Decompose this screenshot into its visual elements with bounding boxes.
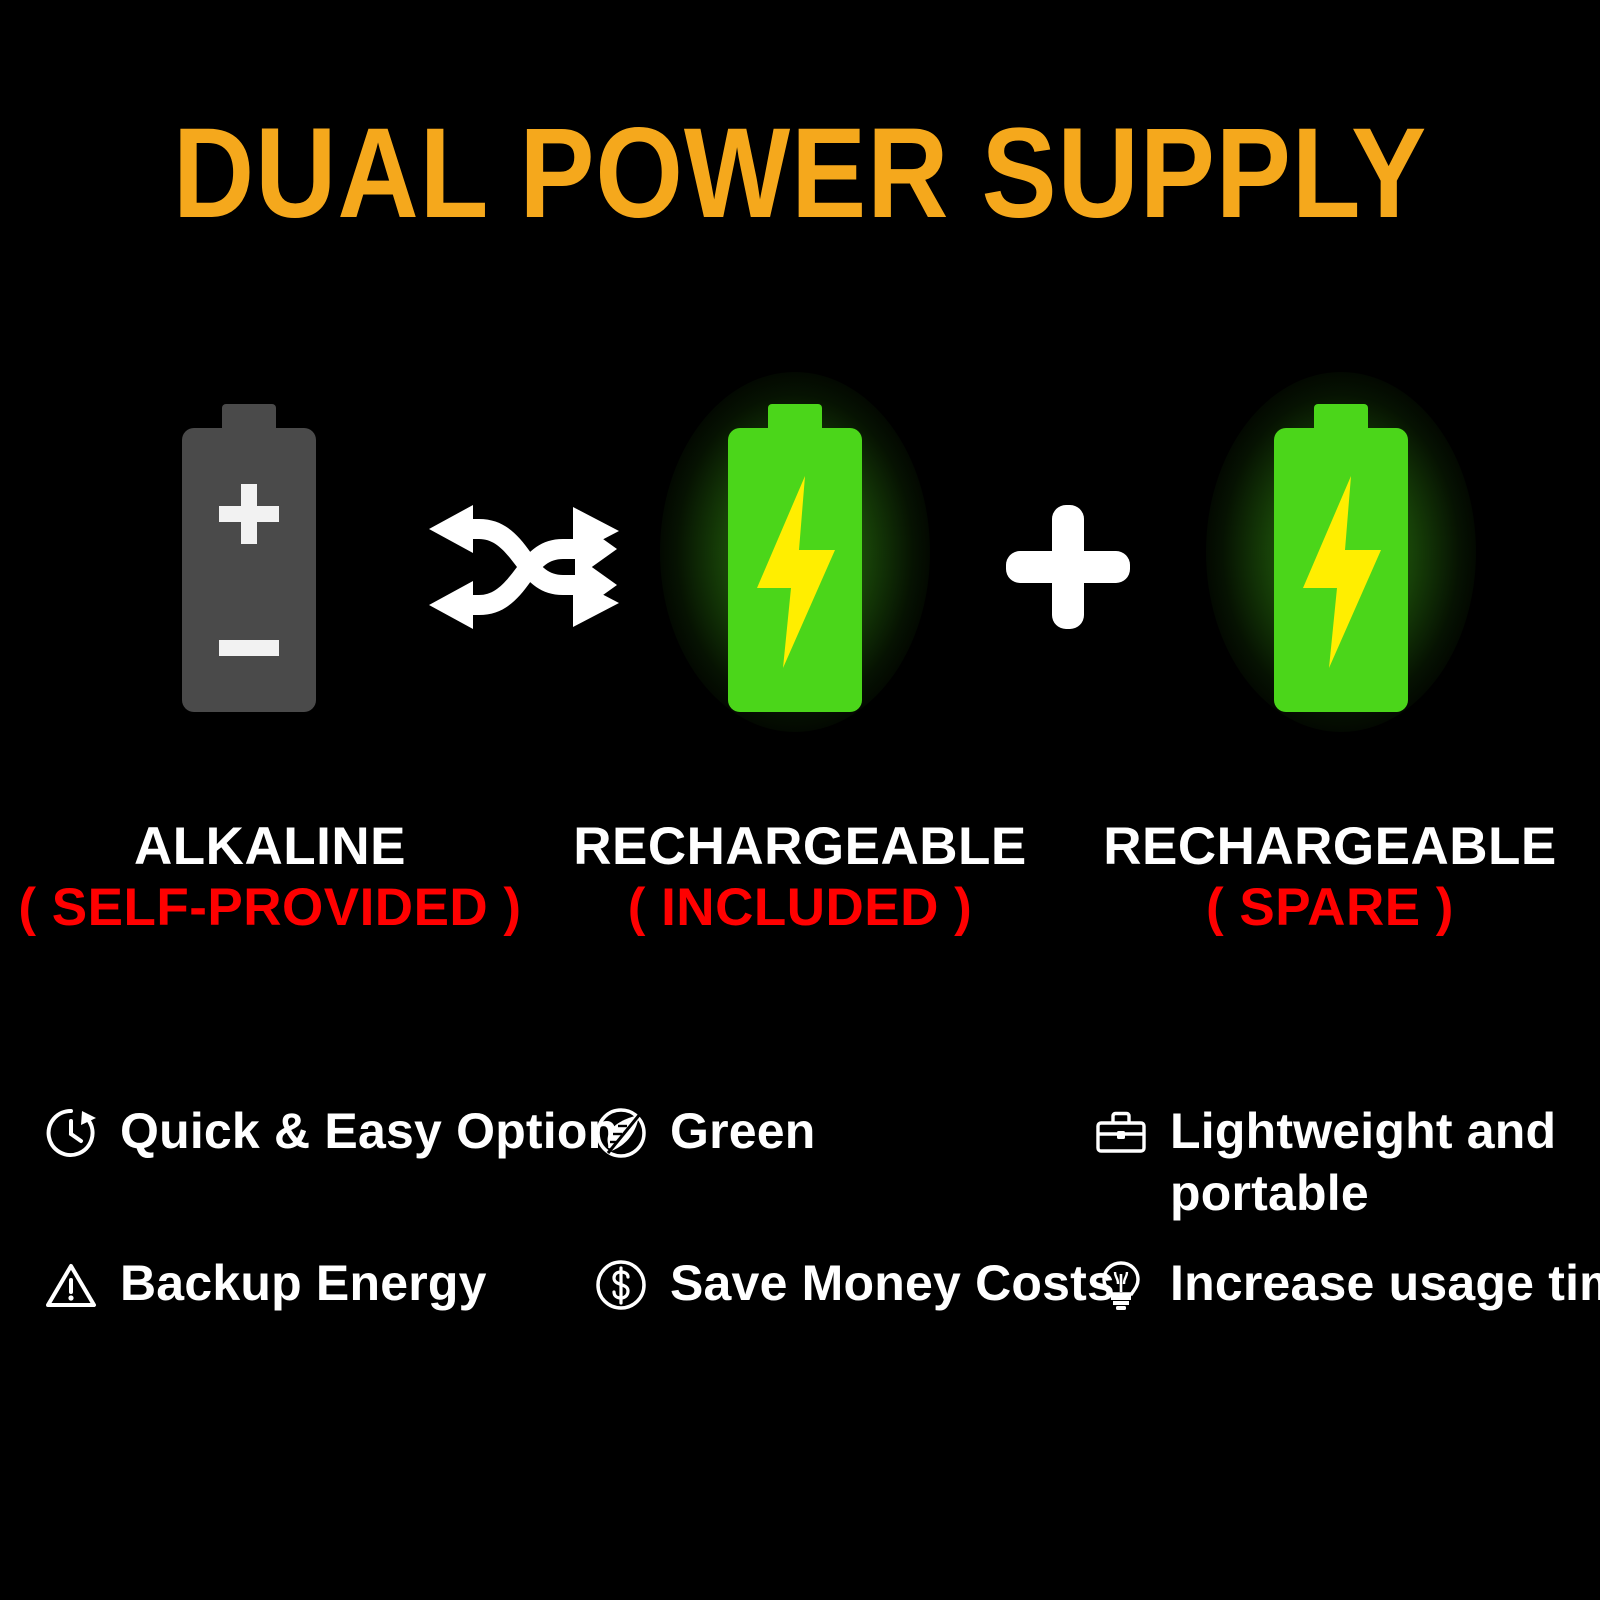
briefcase-icon [1094,1106,1148,1160]
battery-cell-alkaline [104,392,394,742]
battery-status-badge: ( INCLUDED ) [540,876,1060,940]
feature-label: Save Money Costs [670,1252,1115,1314]
shuffle-arrows-icon [417,497,627,637]
rechargeable-battery-icon [1274,404,1408,712]
feature-label: Quick & Easy Option [120,1100,618,1162]
battery-cell-rechargeable-included [650,392,940,742]
feature-label: Increase usage time [1170,1252,1600,1314]
battery-cap [222,404,276,430]
battery-cell-rechargeable-spare [1196,392,1486,742]
lightbulb-icon [1094,1258,1148,1312]
feature-item: Increase usage time [1094,1252,1600,1314]
connector-shuffle [394,392,650,742]
page-title: DUAL POWER SUPPLY [96,108,1504,240]
battery-type-name: ALKALINE [0,818,540,876]
dollar-circle-icon [594,1258,648,1312]
battery-status-badge: ( SELF-PROVIDED ) [0,876,540,940]
warning-triangle-icon [44,1258,98,1312]
lightning-bolt-icon [747,472,843,672]
battery-body [728,428,862,712]
leaf-circle-icon [594,1106,648,1160]
feature-item: Backup Energy [44,1252,487,1314]
battery-comparison-row [0,392,1600,742]
plus-icon [1006,505,1130,629]
plus-terminal-icon [219,484,279,544]
feature-label: Lightweight and portable [1170,1100,1600,1224]
battery-cap [1314,404,1368,430]
feature-item: Green [594,1100,816,1162]
alkaline-battery-icon [182,404,316,712]
battery-type-name: RECHARGEABLE [540,818,1060,876]
battery-status-badge: ( SPARE ) [1060,876,1600,940]
battery-body [182,428,316,712]
rechargeable-battery-icon [728,404,862,712]
feature-item: Save Money Costs [594,1252,1115,1314]
feature-label: Green [670,1100,816,1162]
battery-label-row: ALKALINE ( SELF-PROVIDED ) RECHARGEABLE … [0,818,1600,978]
feature-list: Quick & Easy Option Backup Energy Green [0,1082,1600,1382]
battery-type-name: RECHARGEABLE [1060,818,1600,876]
clock-history-icon [44,1106,98,1160]
battery-label-rechargeable-spare: RECHARGEABLE ( SPARE ) [1060,818,1600,940]
battery-body [1274,428,1408,712]
feature-item: Quick & Easy Option [44,1100,618,1162]
battery-label-alkaline: ALKALINE ( SELF-PROVIDED ) [0,818,540,940]
minus-terminal-icon [219,640,279,656]
feature-label: Backup Energy [120,1252,487,1314]
connector-plus [940,392,1196,742]
battery-label-rechargeable-included: RECHARGEABLE ( INCLUDED ) [540,818,1060,940]
feature-item: Lightweight and portable [1094,1100,1600,1224]
lightning-bolt-icon [1293,472,1389,672]
battery-cap [768,404,822,430]
